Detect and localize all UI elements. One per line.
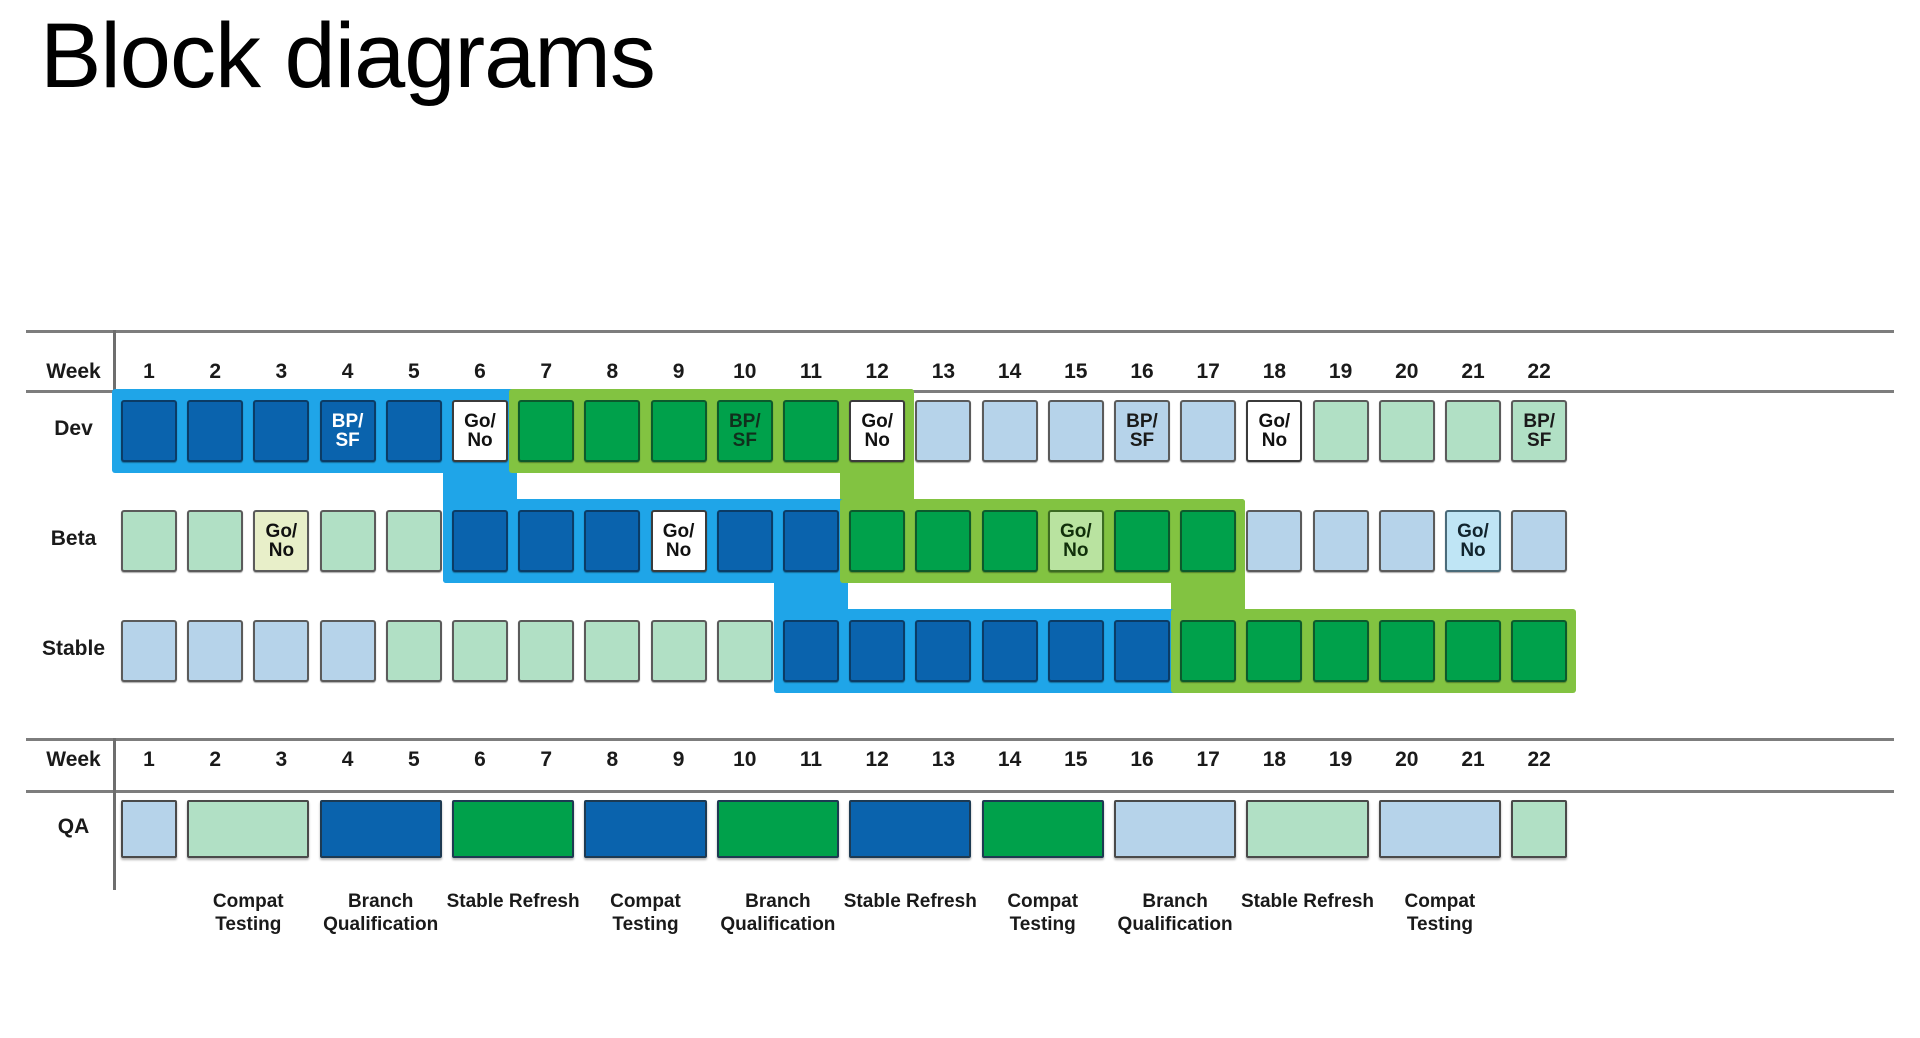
cell-dev-week-14[interactable] bbox=[982, 400, 1038, 462]
week-number-2: 2 bbox=[185, 360, 245, 384]
cell-dev-week-11[interactable] bbox=[783, 400, 839, 462]
cell-stable-week-22[interactable] bbox=[1511, 620, 1567, 682]
week-number-15: 15 bbox=[1046, 748, 1106, 772]
cell-stable-week-8[interactable] bbox=[584, 620, 640, 682]
cell-stable-week-3[interactable] bbox=[253, 620, 309, 682]
week-header-label-1: Week bbox=[26, 748, 121, 772]
cell-beta-week-22[interactable] bbox=[1511, 510, 1567, 572]
cell-beta-week-1[interactable] bbox=[121, 510, 177, 572]
cell-dev-week-15[interactable] bbox=[1048, 400, 1104, 462]
cell-stable-week-16[interactable] bbox=[1114, 620, 1170, 682]
cell-beta-week-11[interactable] bbox=[783, 510, 839, 572]
week-header-label-0: Week bbox=[26, 360, 121, 384]
cell-stable-week-13[interactable] bbox=[915, 620, 971, 682]
cell-stable-week-7[interactable] bbox=[518, 620, 574, 682]
week-number-20: 20 bbox=[1377, 748, 1437, 772]
cell-stable-week-18[interactable] bbox=[1246, 620, 1302, 682]
week-number-16: 16 bbox=[1112, 748, 1172, 772]
cell-stable-week-14[interactable] bbox=[982, 620, 1038, 682]
week-number-9: 9 bbox=[649, 748, 709, 772]
table-rule-0 bbox=[26, 330, 1894, 333]
cell-beta-week-19[interactable] bbox=[1313, 510, 1369, 572]
cell-stable-week-6[interactable] bbox=[452, 620, 508, 682]
week-number-13: 13 bbox=[913, 748, 973, 772]
week-number-4: 4 bbox=[318, 360, 378, 384]
week-number-10: 10 bbox=[715, 748, 775, 772]
cell-stable-week-12[interactable] bbox=[849, 620, 905, 682]
cell-beta-week-18[interactable] bbox=[1246, 510, 1302, 572]
week-number-22: 22 bbox=[1509, 360, 1569, 384]
week-number-19: 19 bbox=[1311, 360, 1371, 384]
week-number-18: 18 bbox=[1244, 748, 1304, 772]
page-title: Block diagrams bbox=[40, 8, 655, 105]
week-number-11: 11 bbox=[781, 360, 841, 384]
cell-dev-week-1[interactable] bbox=[121, 400, 177, 462]
week-number-13: 13 bbox=[913, 360, 973, 384]
week-number-21: 21 bbox=[1443, 360, 1503, 384]
week-number-16: 16 bbox=[1112, 360, 1172, 384]
week-number-22: 22 bbox=[1509, 748, 1569, 772]
cell-stable-week-9[interactable] bbox=[651, 620, 707, 682]
cell-stable-week-20[interactable] bbox=[1379, 620, 1435, 682]
cell-dev-week-21[interactable] bbox=[1445, 400, 1501, 462]
week-number-9: 9 bbox=[649, 360, 709, 384]
cell-stable-week-19[interactable] bbox=[1313, 620, 1369, 682]
qa-block-12[interactable] bbox=[849, 800, 971, 858]
qa-block-1[interactable] bbox=[121, 800, 177, 858]
cell-beta-week-21[interactable]: Go/No bbox=[1445, 510, 1501, 572]
qa-block-4[interactable] bbox=[320, 800, 442, 858]
table-rule-3 bbox=[26, 790, 1894, 793]
week-number-18: 18 bbox=[1244, 360, 1304, 384]
cell-dev-week-10[interactable]: BP/SF bbox=[717, 400, 773, 462]
cell-beta-week-5[interactable] bbox=[386, 510, 442, 572]
cell-dev-week-19[interactable] bbox=[1313, 400, 1369, 462]
cell-stable-week-1[interactable] bbox=[121, 620, 177, 682]
cell-beta-week-6[interactable] bbox=[452, 510, 508, 572]
qa-block-18[interactable] bbox=[1246, 800, 1368, 858]
week-number-14: 14 bbox=[980, 748, 1040, 772]
qa-block-20[interactable] bbox=[1379, 800, 1501, 858]
qa-block-8[interactable] bbox=[584, 800, 706, 858]
week-number-5: 5 bbox=[384, 748, 444, 772]
cell-beta-week-15[interactable]: Go/No bbox=[1048, 510, 1104, 572]
release-train-diagram: Week12345678910111213141516171819202122W… bbox=[0, 338, 1920, 1038]
cell-beta-week-7[interactable] bbox=[518, 510, 574, 572]
cell-dev-week-16[interactable]: BP/SF bbox=[1114, 400, 1170, 462]
qa-block-10[interactable] bbox=[717, 800, 839, 858]
qa-block-22[interactable] bbox=[1511, 800, 1567, 858]
cell-dev-week-7[interactable] bbox=[518, 400, 574, 462]
cell-dev-week-5[interactable] bbox=[386, 400, 442, 462]
week-number-12: 12 bbox=[847, 360, 907, 384]
cell-dev-week-9[interactable] bbox=[651, 400, 707, 462]
week-number-2: 2 bbox=[185, 748, 245, 772]
row-label-stable: Stable bbox=[26, 637, 121, 661]
week-number-3: 3 bbox=[251, 748, 311, 772]
cell-beta-week-12[interactable] bbox=[849, 510, 905, 572]
week-number-10: 10 bbox=[715, 360, 775, 384]
week-number-4: 4 bbox=[318, 748, 378, 772]
cell-dev-week-20[interactable] bbox=[1379, 400, 1435, 462]
week-number-3: 3 bbox=[251, 360, 311, 384]
cell-stable-week-4[interactable] bbox=[320, 620, 376, 682]
cell-dev-week-3[interactable] bbox=[253, 400, 309, 462]
row-label-qa: QA bbox=[26, 815, 121, 839]
week-number-7: 7 bbox=[516, 360, 576, 384]
row-label-dev: Dev bbox=[26, 417, 121, 441]
cell-stable-week-11[interactable] bbox=[783, 620, 839, 682]
week-number-8: 8 bbox=[582, 748, 642, 772]
qa-block-14[interactable] bbox=[982, 800, 1104, 858]
cell-stable-week-5[interactable] bbox=[386, 620, 442, 682]
week-number-20: 20 bbox=[1377, 360, 1437, 384]
qa-block-6[interactable] bbox=[452, 800, 574, 858]
row-label-beta: Beta bbox=[26, 527, 121, 551]
cell-dev-week-6[interactable]: Go/No bbox=[452, 400, 508, 462]
week-number-19: 19 bbox=[1311, 748, 1371, 772]
cell-dev-week-18[interactable]: Go/No bbox=[1246, 400, 1302, 462]
cell-dev-week-17[interactable] bbox=[1180, 400, 1236, 462]
week-number-12: 12 bbox=[847, 748, 907, 772]
table-rule-2 bbox=[26, 738, 1894, 741]
cell-beta-week-3[interactable]: Go/No bbox=[253, 510, 309, 572]
week-number-7: 7 bbox=[516, 748, 576, 772]
cell-beta-week-16[interactable] bbox=[1114, 510, 1170, 572]
week-number-5: 5 bbox=[384, 360, 444, 384]
week-number-1: 1 bbox=[119, 360, 179, 384]
week-number-15: 15 bbox=[1046, 360, 1106, 384]
cell-dev-week-8[interactable] bbox=[584, 400, 640, 462]
week-number-17: 17 bbox=[1178, 748, 1238, 772]
cell-beta-week-8[interactable] bbox=[584, 510, 640, 572]
cell-stable-week-21[interactable] bbox=[1445, 620, 1501, 682]
week-number-21: 21 bbox=[1443, 748, 1503, 772]
cell-dev-week-4[interactable]: BP/SF bbox=[320, 400, 376, 462]
cell-stable-week-17[interactable] bbox=[1180, 620, 1236, 682]
week-number-17: 17 bbox=[1178, 360, 1238, 384]
cell-dev-week-13[interactable] bbox=[915, 400, 971, 462]
week-number-14: 14 bbox=[980, 360, 1040, 384]
cell-beta-week-9[interactable]: Go/No bbox=[651, 510, 707, 572]
cell-stable-week-10[interactable] bbox=[717, 620, 773, 682]
label-column-divider-2 bbox=[113, 790, 116, 890]
week-number-6: 6 bbox=[450, 360, 510, 384]
cell-stable-week-15[interactable] bbox=[1048, 620, 1104, 682]
cell-stable-week-2[interactable] bbox=[187, 620, 243, 682]
cell-beta-week-10[interactable] bbox=[717, 510, 773, 572]
qa-block-2[interactable] bbox=[187, 800, 309, 858]
cell-beta-week-2[interactable] bbox=[187, 510, 243, 572]
cell-dev-week-12[interactable]: Go/No bbox=[849, 400, 905, 462]
week-number-8: 8 bbox=[582, 360, 642, 384]
cell-dev-week-22[interactable]: BP/SF bbox=[1511, 400, 1567, 462]
week-number-1: 1 bbox=[119, 748, 179, 772]
week-number-11: 11 bbox=[781, 748, 841, 772]
cell-beta-week-4[interactable] bbox=[320, 510, 376, 572]
qa-block-label-20: CompatTesting bbox=[1339, 890, 1541, 936]
cell-beta-week-20[interactable] bbox=[1379, 510, 1435, 572]
week-number-6: 6 bbox=[450, 748, 510, 772]
cell-dev-week-2[interactable] bbox=[187, 400, 243, 462]
cell-beta-week-13[interactable] bbox=[915, 510, 971, 572]
qa-block-16[interactable] bbox=[1114, 800, 1236, 858]
cell-beta-week-17[interactable] bbox=[1180, 510, 1236, 572]
cell-beta-week-14[interactable] bbox=[982, 510, 1038, 572]
